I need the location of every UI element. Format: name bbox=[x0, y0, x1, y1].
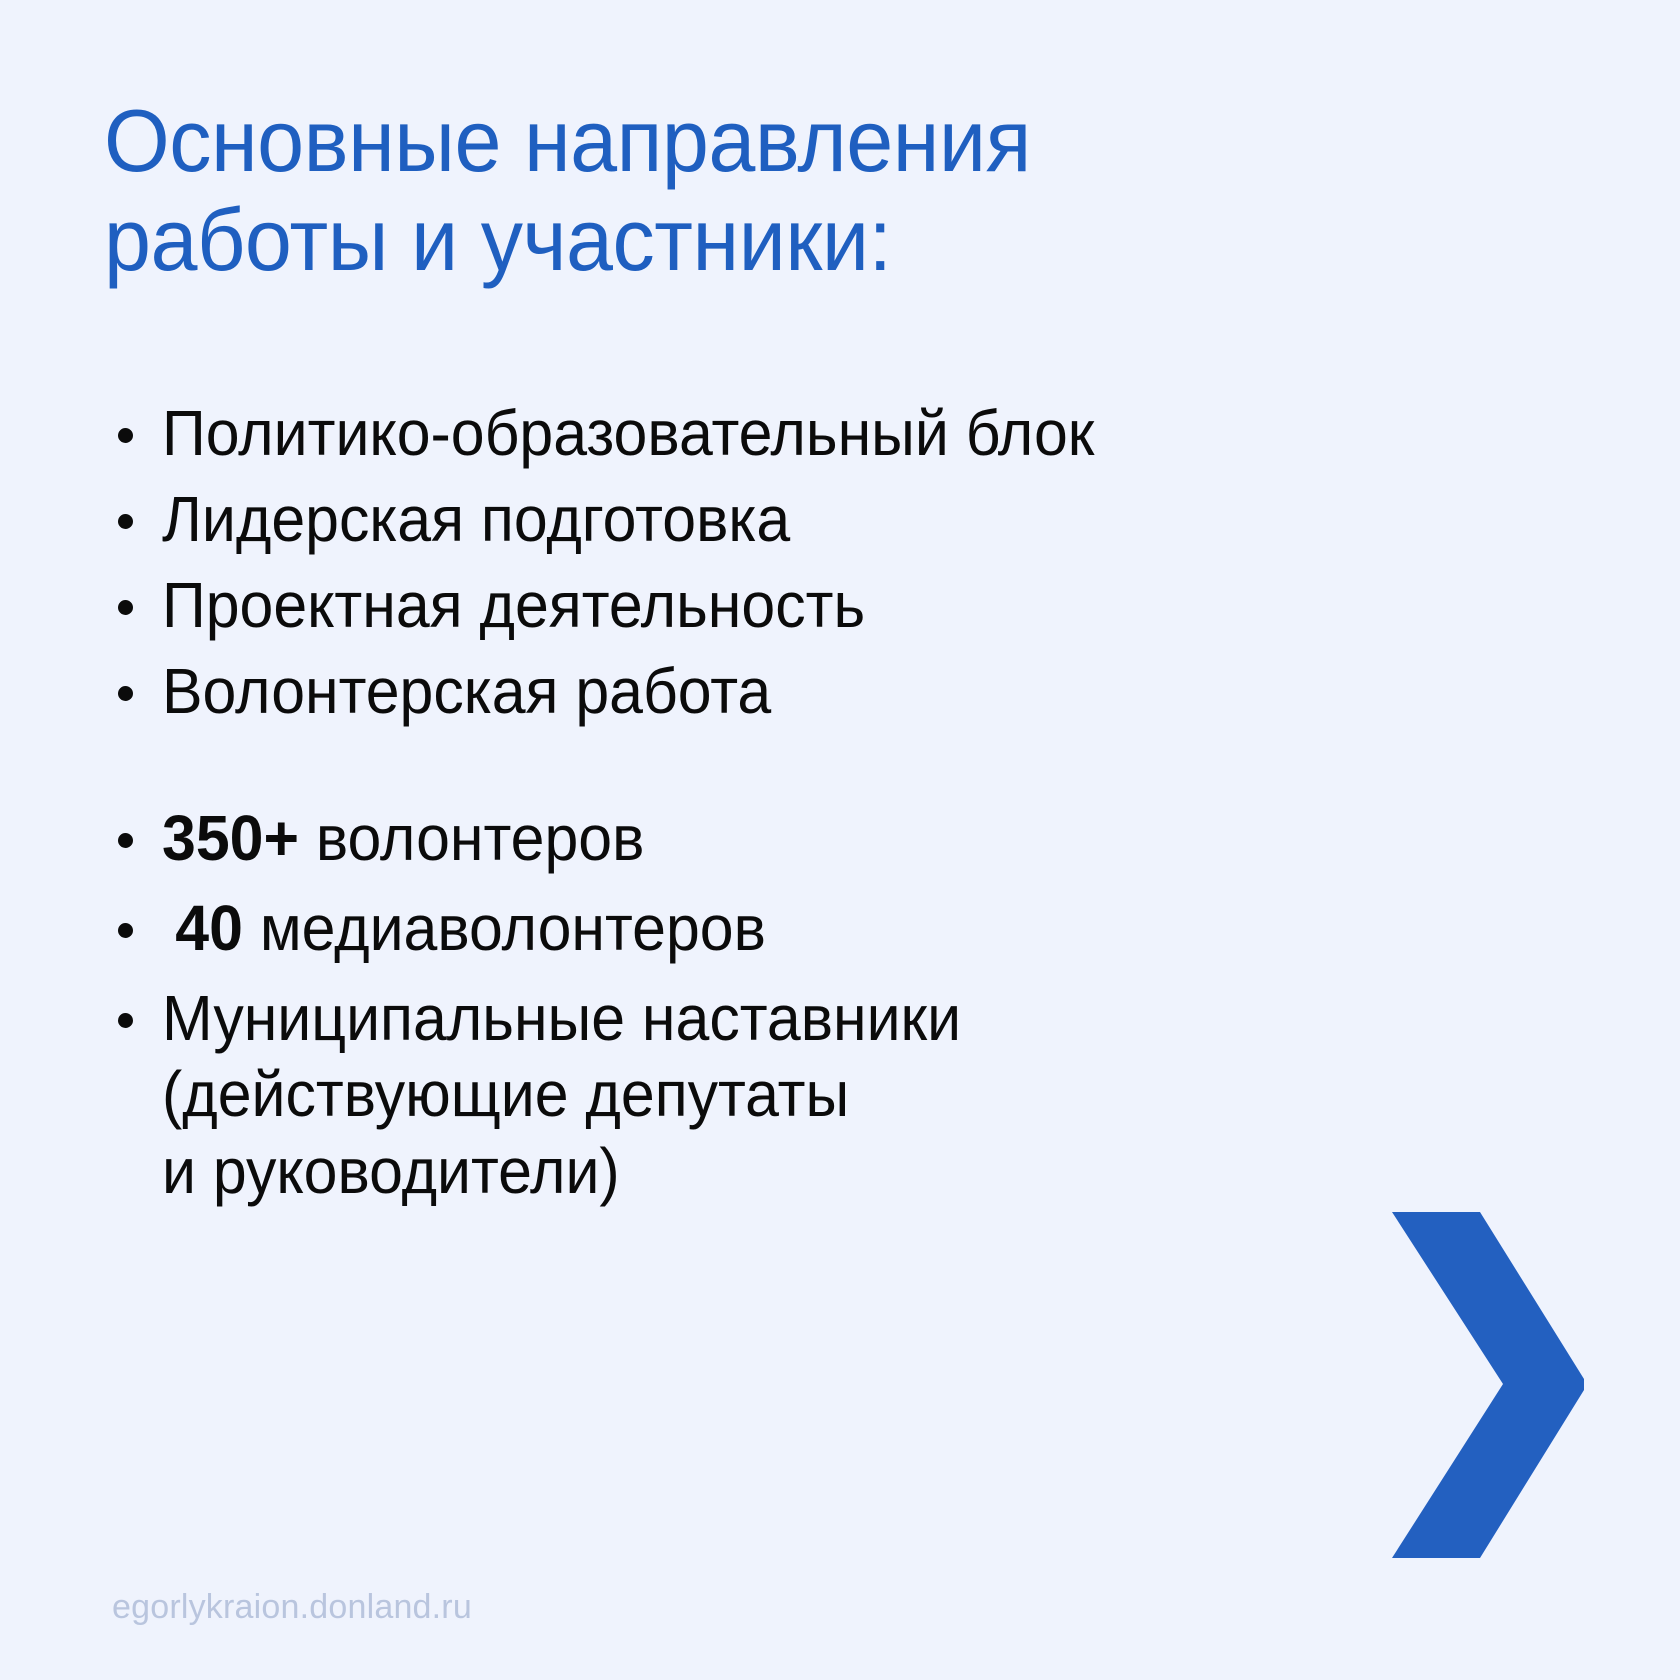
list-item-label: Лидерская подготовка bbox=[162, 481, 1370, 557]
list-item: 40 медиаволонтеров bbox=[104, 890, 1434, 966]
list-item: Волонтерская работа bbox=[104, 653, 1434, 729]
page-title-line-1: Основные направления bbox=[104, 92, 1381, 191]
directions-list: Политико-образовательный блок Лидерская … bbox=[104, 395, 1434, 740]
participant-count: 350+ bbox=[162, 802, 299, 874]
list-item: Лидерская подготовка bbox=[104, 481, 1434, 557]
bullet-dot-icon bbox=[104, 395, 162, 471]
page-title: Основные направления работы и участники: bbox=[104, 92, 1381, 289]
list-item: Проектная деятельность bbox=[104, 567, 1434, 643]
list-item-label: Муниципальные наставники (действующие де… bbox=[162, 980, 1370, 1208]
bullet-dot-icon bbox=[104, 980, 162, 1056]
bullet-dot-icon bbox=[104, 567, 162, 643]
list-item-label: 40 медиаволонтеров bbox=[162, 890, 1370, 966]
bullet-dot-icon bbox=[104, 653, 162, 729]
list-item-label: Политико-образовательный блок bbox=[162, 395, 1370, 471]
participant-label: медиаволонтеров bbox=[243, 892, 766, 964]
page-title-line-2: работы и участники: bbox=[104, 191, 1381, 290]
participant-count: 40 bbox=[175, 892, 243, 964]
list-item: Муниципальные наставники (действующие де… bbox=[104, 980, 1434, 1208]
list-item: 350+ волонтеров bbox=[104, 800, 1434, 876]
bullet-dot-icon bbox=[104, 800, 162, 876]
footer-url: egorlykraion.donland.ru bbox=[112, 1588, 472, 1627]
list-item-label: 350+ волонтеров bbox=[162, 800, 1370, 876]
slide-canvas: Основные направления работы и участники:… bbox=[0, 0, 1680, 1680]
list-item-label: Волонтерская работа bbox=[162, 653, 1370, 729]
list-item: Политико-образовательный блок bbox=[104, 395, 1434, 471]
participants-list: 350+ волонтеров 40 медиаволонтеров Муниц… bbox=[104, 800, 1434, 1223]
chevron-right-icon bbox=[1358, 1212, 1584, 1558]
bullet-dot-icon bbox=[104, 890, 162, 966]
list-item-label: Проектная деятельность bbox=[162, 567, 1370, 643]
bullet-dot-icon bbox=[104, 481, 162, 557]
participant-label: волонтеров bbox=[299, 802, 644, 874]
